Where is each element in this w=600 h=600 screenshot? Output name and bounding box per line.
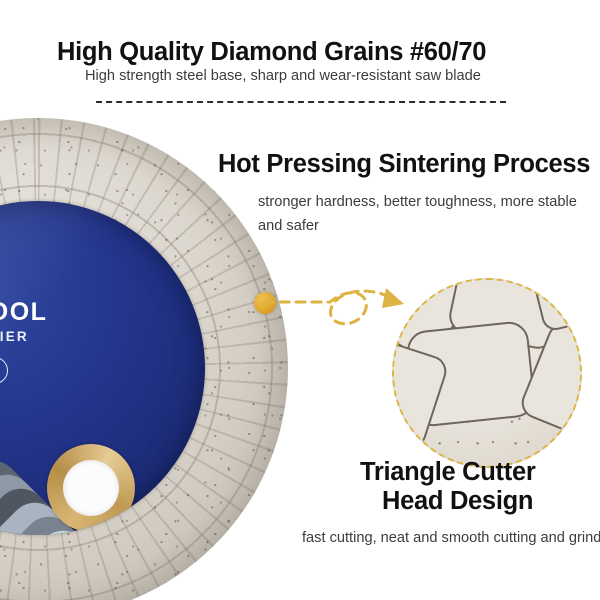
hot-pressing-subtitle-2: and safer xyxy=(258,218,319,234)
arbor-hole xyxy=(63,460,119,516)
brand-name: SHDIATOOL xyxy=(0,298,47,327)
safety-gloves-icon xyxy=(0,357,8,384)
triangle-cutter-title-2: Head Design xyxy=(382,487,533,516)
magnified-segment-circle xyxy=(392,278,582,468)
triangle-cutter-title-1: Triangle Cutter xyxy=(360,458,535,487)
arbor-ring xyxy=(47,444,135,532)
triangle-cutter-subtitle: fast cutting, neat and smooth cutting an… xyxy=(302,530,600,546)
product-infographic: TOOL SHDIATOOL ONAL SUPPLIER celain Tile xyxy=(0,0,600,600)
dashed-divider xyxy=(96,101,506,103)
hot-pressing-subtitle-1: stronger hardness, better toughness, mor… xyxy=(258,194,577,210)
hot-pressing-title: Hot Pressing Sintering Process xyxy=(218,150,590,179)
page-title: High Quality Diamond Grains #60/70 xyxy=(57,38,486,67)
brand-tagline: ONAL SUPPLIER xyxy=(0,329,29,344)
page-subtitle: High strength steel base, sharp and wear… xyxy=(85,68,481,84)
diamond-saw-blade: TOOL SHDIATOOL ONAL SUPPLIER celain Tile xyxy=(0,118,288,600)
safety-icon-row xyxy=(0,357,8,384)
